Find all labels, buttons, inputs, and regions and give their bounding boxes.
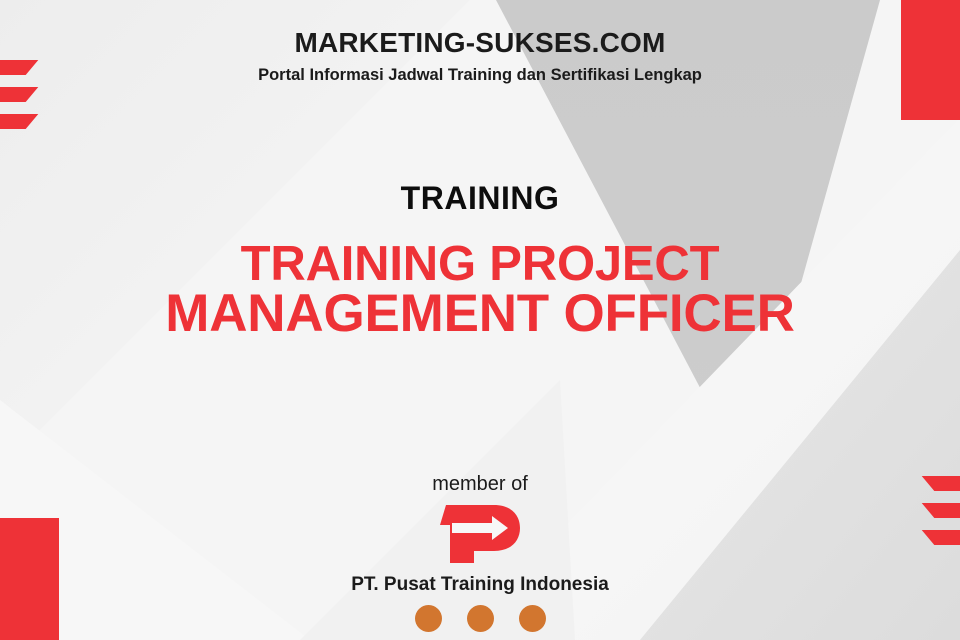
page-title: TRAINING PROJECT MANAGEMENT OFFICER — [40, 240, 920, 340]
member-of-label: member of — [0, 473, 960, 495]
dot-1 — [415, 605, 442, 632]
site-header: MARKETING-SUKSES.COM Portal Informasi Ja… — [0, 28, 960, 85]
banner-content: MARKETING-SUKSES.COM Portal Informasi Ja… — [0, 0, 960, 640]
training-banner: MARKETING-SUKSES.COM Portal Informasi Ja… — [0, 0, 960, 640]
dot-3 — [519, 605, 546, 632]
company-name: PT. Pusat Training Indonesia — [0, 575, 960, 596]
member-of-block: member of PT. Pusat Training Indonesia — [0, 473, 960, 632]
pti-p-arrow-logo-icon — [428, 501, 532, 567]
site-name: MARKETING-SUKSES.COM — [0, 28, 960, 59]
kicker-label: TRAINING — [0, 180, 960, 217]
site-tagline: Portal Informasi Jadwal Training dan Ser… — [0, 66, 960, 85]
dot-2 — [467, 605, 494, 632]
headline-line-1: TRAINING PROJECT — [40, 240, 920, 288]
dots-decoration — [0, 605, 960, 632]
headline-line-2: MANAGEMENT OFFICER — [40, 288, 920, 340]
